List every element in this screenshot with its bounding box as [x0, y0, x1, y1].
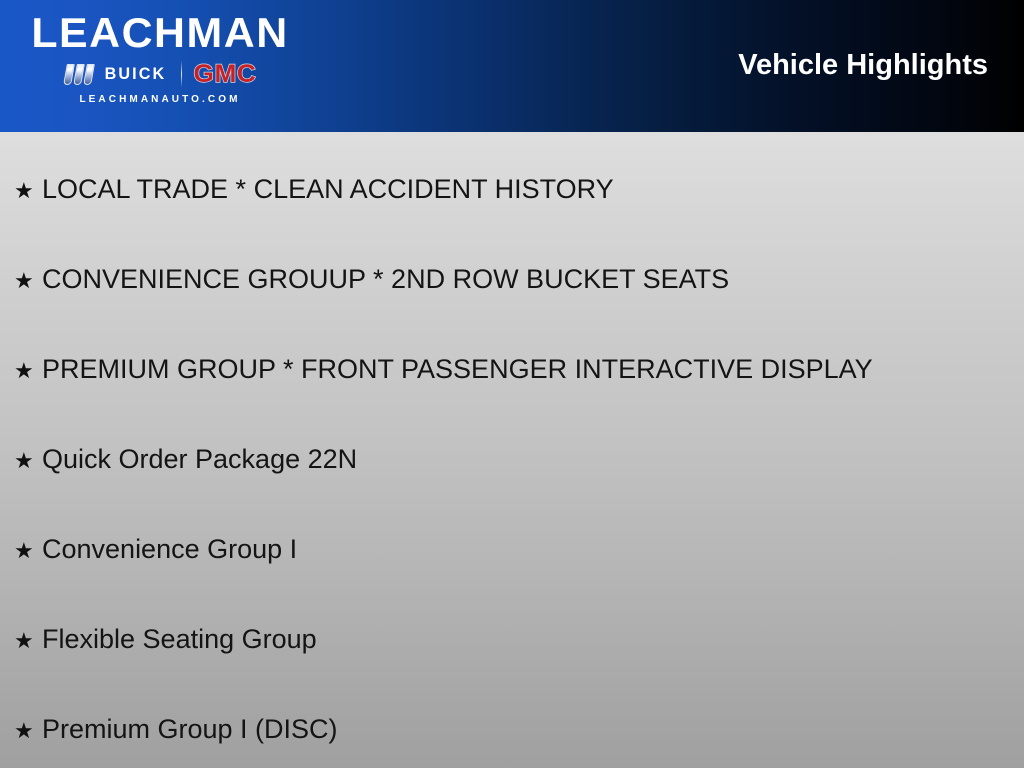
highlight-item: ★Flexible Seating Group	[14, 623, 317, 656]
highlight-item: ★PREMIUM GROUP * FRONT PASSENGER INTERAC…	[14, 353, 873, 386]
dealership-website-url[interactable]: LEACHMANAUTO.COM	[24, 93, 296, 106]
vehicle-highlights-slide: LEACHMAN BUICK GMC LEACHMANAUTO.COM Vehi…	[0, 0, 1024, 768]
star-bullet-icon: ★	[14, 716, 42, 746]
highlight-item: ★LOCAL TRADE * CLEAN ACCIDENT HISTORY	[14, 173, 614, 206]
buick-logo: BUICK	[65, 64, 168, 85]
highlight-label: CONVENIENCE GROUUP * 2ND ROW BUCKET SEAT…	[42, 263, 729, 295]
highlight-item: ★Quick Order Package 22N	[14, 443, 357, 476]
highlight-label: PREMIUM GROUP * FRONT PASSENGER INTERACT…	[42, 353, 873, 385]
dealership-wordmark: LEACHMAN	[21, 10, 298, 56]
brand-divider	[181, 61, 182, 87]
star-bullet-icon: ★	[14, 356, 42, 386]
highlight-item: ★Convenience Group I	[14, 533, 297, 566]
dealership-logo[interactable]: LEACHMAN BUICK GMC LEACHMANAUTO.COM	[24, 10, 296, 125]
gmc-logo: GMC	[194, 61, 257, 87]
highlight-label: Premium Group I (DISC)	[42, 713, 338, 745]
header-banner: LEACHMAN BUICK GMC LEACHMANAUTO.COM Vehi…	[0, 0, 1024, 132]
star-bullet-icon: ★	[14, 176, 42, 206]
highlight-item: ★CONVENIENCE GROUUP * 2ND ROW BUCKET SEA…	[14, 263, 729, 296]
star-bullet-icon: ★	[14, 536, 42, 566]
highlight-label: Flexible Seating Group	[42, 623, 317, 655]
vehicle-highlights-list: ★LOCAL TRADE * CLEAN ACCIDENT HISTORY★CO…	[0, 132, 1024, 768]
brand-row: BUICK GMC	[24, 60, 296, 88]
highlight-label: Quick Order Package 22N	[42, 443, 357, 475]
highlight-item: ★Premium Group I (DISC)	[14, 713, 338, 746]
buick-label: BUICK	[105, 64, 167, 84]
highlight-label: Convenience Group I	[42, 533, 297, 565]
star-bullet-icon: ★	[14, 446, 42, 476]
highlight-label: LOCAL TRADE * CLEAN ACCIDENT HISTORY	[42, 173, 614, 205]
dealership-name-text: LEACHMAN	[31, 9, 288, 56]
star-bullet-icon: ★	[14, 626, 42, 656]
buick-trishield-icon	[65, 64, 96, 85]
star-bullet-icon: ★	[14, 266, 42, 296]
page-title: Vehicle Highlights	[738, 48, 988, 82]
